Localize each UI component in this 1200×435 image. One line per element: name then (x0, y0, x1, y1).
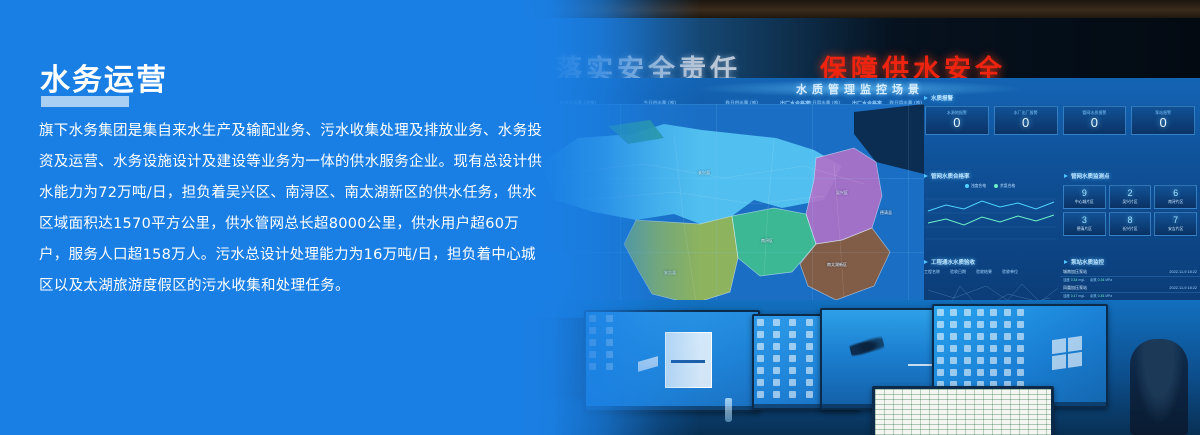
monitor-point-cell[interactable]: 8 长兴片区 (1109, 212, 1152, 236)
windows-logo-icon (1052, 336, 1082, 370)
acceptance-column: 验收单位 (1002, 269, 1018, 275)
monitor-point-label: 长兴片区 (1110, 227, 1151, 232)
pump-log-row[interactable]: 凤凰加压泵站 2022-11-9 18:22 浊度 0.17 mgL 余氯 0.… (1060, 284, 1200, 300)
photo-contents: 落实安全责任 保障供水安全 水质管理监控场景 年供水总量 (万吨) 今日供水量 … (520, 0, 1200, 435)
diver-silhouette (849, 336, 886, 360)
panel-header: 水质报警 (920, 92, 1200, 104)
panel-title: 管网水质监测点 (1071, 172, 1110, 180)
monitor-point-count: 2 (1110, 189, 1151, 198)
chevron-right-icon (924, 174, 928, 178)
control-room-photo: 落实安全责任 保障供水安全 水质管理监控场景 年供水总量 (万吨) 今日供水量 … (520, 0, 1200, 435)
alarm-card[interactable]: 泵站报警 0 (1131, 106, 1195, 135)
panel-title: 管网水质合格率 (931, 172, 970, 180)
monitor-point-label: 中心城片区 (1064, 200, 1105, 205)
monitor-point-count: 6 (1155, 189, 1196, 198)
monitor-point-count: 7 (1155, 216, 1196, 225)
pump-metric: 余氯 0.45 MPa (1090, 293, 1112, 298)
acceptance-columns: 工程名称 验收日期 验收结果 验收单位 (920, 268, 1060, 276)
monitor-point-count: 3 (1064, 216, 1105, 225)
rate-line-chart (920, 189, 1060, 245)
map-region-label: 南太湖新区 (827, 262, 847, 268)
chevron-right-icon (924, 260, 928, 264)
monitor-point-cell[interactable]: 2 吴兴片区 (1109, 185, 1152, 209)
alarm-card[interactable]: 水厂出厂报警 0 (994, 106, 1058, 135)
monitor-point-grid: 9 中心城片区 2 吴兴片区 6 南浔片区 (1060, 182, 1200, 239)
monitor-point-cell[interactable]: 3 德清片区 (1063, 212, 1106, 236)
monitor-stand (801, 408, 811, 410)
title-underline (41, 96, 129, 107)
monitor-point-label: 南浔片区 (1155, 200, 1196, 205)
alarm-card-row: 水源地报警 0 水厂出厂报警 0 管网水质报警 0 (920, 104, 1200, 137)
pump-log-row[interactable]: 城南加压泵站 2022-11-9 18:22 浊度 0.34 mgL 余氯 0.… (1060, 268, 1200, 284)
water-operations-banner: 落实安全责任 保障供水安全 水质管理监控场景 年供水总量 (万吨) 今日供水量 … (0, 0, 1200, 435)
map-region-label: 德清县 (880, 210, 892, 216)
alarm-card[interactable]: 管网水质报警 0 (1063, 106, 1127, 135)
spreadsheet-window[interactable] (875, 389, 1051, 435)
description-text: 旗下水务集团是集自来水生产及输配业务、污水收集处理及排放业务、水务投资及运营、水… (39, 116, 544, 302)
panel-title: 工程通水水质验收 (931, 258, 975, 266)
panel-header: 管网水质监测点 (1060, 170, 1200, 182)
description-paragraph: 旗下水务集团是集自来水生产及输配业务、污水收集处理及排放业务、水务投资及运营、水… (39, 116, 544, 302)
panel-header: 管网水质合格率 (920, 170, 1060, 182)
chevron-right-icon (1064, 174, 1068, 178)
monitor-point-label: 德清片区 (1064, 227, 1105, 232)
monitor-point-label: 安吉片区 (1155, 227, 1196, 232)
chevron-right-icon (924, 96, 928, 100)
panel-water-quality-alarm[interactable]: 水质报警 水源地报警 0 水厂出厂报警 0 (920, 92, 1200, 170)
alarm-card[interactable]: 水源地报警 0 (925, 106, 989, 135)
panel-header: 工程通水水质验收 (920, 256, 1060, 268)
pump-name: 凤凰加压泵站 (1063, 285, 1087, 291)
pump-time: 2022-11-9 18:22 (1169, 286, 1197, 290)
map-region-label: 南浔区 (761, 238, 773, 244)
water-bottle (725, 398, 732, 422)
alarm-value: 0 (995, 116, 1057, 130)
pump-metric: 浊度 0.34 mgL (1063, 277, 1085, 282)
pump-metric: 余氯 0.34 MPa (1090, 277, 1112, 282)
alarm-value: 0 (1132, 116, 1194, 130)
alarm-value: 0 (926, 116, 988, 130)
chevron-right-icon (1064, 260, 1068, 264)
map-region-label: 吴兴区 (836, 190, 848, 196)
monitor-point-count: 9 (1064, 189, 1105, 198)
panel-header: 泵站水质监控 (1060, 256, 1200, 268)
laptop-spreadsheet[interactable] (872, 386, 1054, 435)
panel-title: 泵站水质监控 (1071, 258, 1104, 266)
page-title: 水务运营 (40, 55, 168, 99)
panel-title: 水质报警 (931, 94, 953, 102)
monitor-point-cell[interactable]: 9 中心城片区 (1063, 185, 1106, 209)
text-column: 水务运营 旗下水务集团是集自来水生产及输配业务、污水收集处理及排放业务、水务投资… (0, 0, 600, 435)
monitor-point-cell[interactable]: 6 南浔片区 (1154, 185, 1197, 209)
pump-metric: 浊度 0.17 mgL (1063, 293, 1085, 298)
chart-legend: 浊度合格 余氯合格 (920, 182, 1060, 189)
alarm-value: 0 (1064, 116, 1126, 130)
monitor-point-count: 8 (1110, 216, 1151, 225)
seated-operator (1130, 339, 1188, 435)
acceptance-column: 验收日期 (950, 269, 966, 275)
monitor-point-cell[interactable]: 7 安吉片区 (1154, 212, 1197, 236)
panel-monitor-points[interactable]: 管网水质监测点 9 中心城片区 2 吴兴片区 (1060, 170, 1200, 256)
acceptance-column: 工程名称 (924, 269, 940, 275)
panel-network-quality-rate[interactable]: 管网水质合格率 浊度合格 余氯合格 (920, 170, 1060, 256)
pump-time: 2022-11-9 18:22 (1169, 270, 1197, 274)
pump-name: 城南加压泵站 (1063, 269, 1087, 275)
dashboard-right-column: 水质报警 水源地报警 0 水厂出厂报警 0 (920, 92, 1200, 320)
monitor-point-label: 吴兴片区 (1110, 200, 1151, 205)
acceptance-column: 验收结果 (976, 269, 992, 275)
